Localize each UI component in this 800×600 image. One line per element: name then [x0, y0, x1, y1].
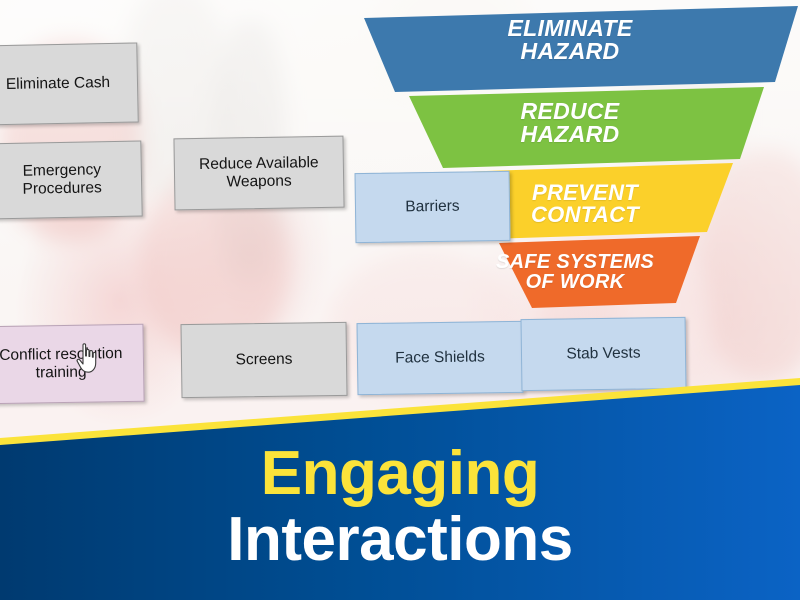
banner-title-line-1: Engaging	[0, 444, 800, 504]
banner-title-line-2: Interactions	[0, 510, 800, 570]
funnel-label-reduce-hazard: REDUCE HAZARD	[430, 100, 710, 147]
callout-box-reduce-available-weapons[interactable]: Reduce Available Weapons	[173, 136, 344, 211]
callout-box-eliminate-cash[interactable]: Eliminate Cash	[0, 42, 139, 125]
callout-box-emergency-procedures[interactable]: Emergency Procedures	[0, 140, 143, 219]
funnel-label-eliminate-hazard: ELIMINATE HAZARD	[420, 17, 720, 64]
callout-box-barriers[interactable]: Barriers	[355, 171, 511, 243]
funnel-label-prevent-contact: PREVENT CONTACT	[480, 182, 690, 227]
funnel-label-safe-systems-of-work: SAFE SYSTEMS OF WORK	[490, 252, 660, 293]
banner-title: Engaging Interactions	[0, 444, 800, 569]
slide-canvas: ELIMINATE HAZARD REDUCE HAZARD PREVENT C…	[0, 0, 800, 600]
bottom-banner: Engaging Interactions	[0, 360, 800, 600]
